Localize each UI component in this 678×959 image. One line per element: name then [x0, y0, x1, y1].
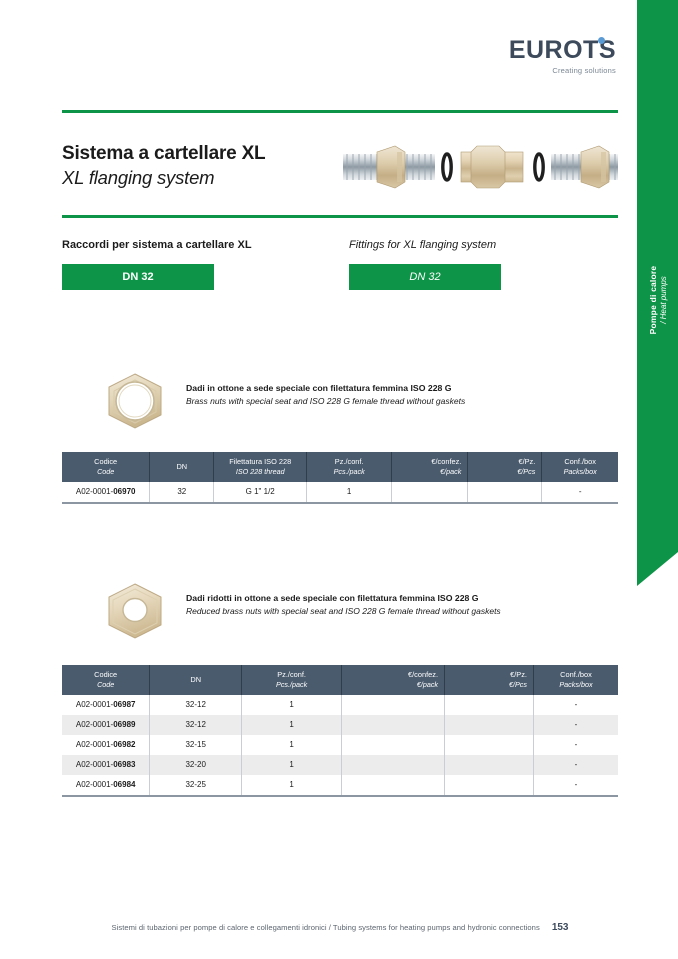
cell-price-pack: [342, 755, 445, 775]
badge-dn-en: DN 32: [349, 264, 501, 290]
cell-packs-box: -: [533, 775, 618, 796]
product-description-it: Dadi ridotti in ottone a sede speciale c…: [186, 592, 501, 605]
page-title-en: XL flanging system: [62, 166, 265, 189]
cell-price-pack: [342, 735, 445, 755]
page-title: Sistema a cartellare XL XL flanging syst…: [62, 142, 265, 189]
cell-pcs-pack: 1: [242, 775, 342, 796]
cell-dn: 32-12: [150, 715, 242, 735]
table-row: A02-0001-0698332-201-: [62, 755, 618, 775]
reduced-brass-hex-nut-photo: [84, 580, 186, 642]
cell-pcs-pack: 1: [307, 482, 392, 503]
page-title-it: Sistema a cartellare XL: [62, 142, 265, 166]
col-price-pack: €/confez. €/pack: [392, 452, 468, 482]
col-packs-box: Conf./box Packs/box: [542, 452, 618, 482]
col-filettatura: Filettatura ISO 228 ISO 228 thread: [214, 452, 307, 482]
col-packs-box: Conf./box Packs/box: [533, 665, 618, 695]
cell-price-pcs: [468, 482, 542, 503]
logo-tagline: Creating solutions: [509, 66, 616, 75]
col-price-pcs: €/Pz. €/Pcs: [468, 452, 542, 482]
brass-hex-nut-photo: [84, 370, 186, 432]
product-description-2: Dadi ridotti in ottone a sede speciale c…: [186, 592, 501, 618]
cell-price-pcs: [445, 775, 534, 796]
section-tab-label-it: Pompe di calore: [648, 266, 658, 335]
cell-price-pack: [392, 482, 468, 503]
divider-top: [62, 110, 618, 113]
cell-thread: G 1" 1/2: [214, 482, 307, 503]
table-row: A02-0001-0698232-151-: [62, 735, 618, 755]
cell-dn: 32-15: [150, 735, 242, 755]
col-pcs-pack: Pz./conf. Pcs./pack: [307, 452, 392, 482]
col-codice: Codice Code: [62, 452, 150, 482]
cell-pcs-pack: 1: [242, 695, 342, 715]
divider-middle: [62, 215, 618, 218]
logo-wordmark-main: EUROT: [509, 36, 599, 64]
cell-dn: 32-25: [150, 775, 242, 796]
col-codice: Codice Code: [62, 665, 150, 695]
cell-code: A02-0001-06970: [62, 482, 150, 503]
product-description-en: Brass nuts with special seat and ISO 228…: [186, 395, 465, 408]
footer-page-number: 153: [552, 922, 569, 933]
cell-price-pcs: [445, 755, 534, 775]
cell-price-pcs: [445, 735, 534, 755]
logo-dot-icon: [598, 37, 605, 44]
section-tab-notch: [637, 552, 678, 586]
cell-price-pack: [342, 775, 445, 796]
hero-product-image: [343, 128, 618, 204]
cell-pcs-pack: 1: [242, 755, 342, 775]
table-header-row: Codice Code DN Filettatura ISO 228 ISO 2…: [62, 452, 618, 482]
product-description-it: Dadi in ottone a sede speciale con filet…: [186, 382, 465, 395]
cell-price-pack: [342, 715, 445, 735]
product-description-1: Dadi in ottone a sede speciale con filet…: [186, 382, 465, 408]
col-pcs-pack: Pz./conf. Pcs./pack: [242, 665, 342, 695]
badge-dn-it: DN 32: [62, 264, 214, 290]
col-price-pack: €/confez. €/pack: [342, 665, 445, 695]
cell-packs-box: -: [533, 755, 618, 775]
cell-dn: 32: [150, 482, 214, 503]
section-tab-label-en: / Heat pumps: [659, 266, 668, 335]
section-tab-label: Pompe di calore / Heat pumps: [648, 266, 668, 335]
product-description-en: Reduced brass nuts with special seat and…: [186, 605, 501, 618]
cell-pcs-pack: 1: [242, 715, 342, 735]
cell-code: A02-0001-06984: [62, 775, 150, 796]
table-row: A02-0001-06970 32 G 1" 1/2 1 -: [62, 482, 618, 503]
table-row: A02-0001-0698932-121-: [62, 715, 618, 735]
cell-dn: 32-20: [150, 755, 242, 775]
col-dn: DN: [150, 452, 214, 482]
cell-packs-box: -: [542, 482, 618, 503]
cell-pcs-pack: 1: [242, 735, 342, 755]
table-header-row: Codice Code DN Pz./conf. Pcs./pack €/con…: [62, 665, 618, 695]
section-tab-heat-pumps: Pompe di calore / Heat pumps: [637, 0, 678, 552]
product-table-2: Codice Code DN Pz./conf. Pcs./pack €/con…: [62, 665, 618, 797]
cell-dn: 32-12: [150, 695, 242, 715]
cell-packs-box: -: [533, 735, 618, 755]
cell-price-pcs: [445, 695, 534, 715]
cell-packs-box: -: [533, 695, 618, 715]
logo-wordmark: EUROTS: [509, 38, 616, 63]
product-table-1: Codice Code DN Filettatura ISO 228 ISO 2…: [62, 452, 618, 504]
cell-price-pack: [342, 695, 445, 715]
brand-logo: EUROTS Creating solutions: [509, 38, 616, 75]
cell-code: A02-0001-06983: [62, 755, 150, 775]
cell-code: A02-0001-06982: [62, 735, 150, 755]
footer-text: Sistemi di tubazioni per pompe di calore…: [112, 923, 540, 932]
section-subtitle-en: Fittings for XL flanging system: [349, 239, 496, 251]
section-subtitle-it: Raccordi per sistema a cartellare XL: [62, 239, 252, 251]
page-footer: Sistemi di tubazioni per pompe di calore…: [62, 922, 618, 933]
col-price-pcs: €/Pz. €/Pcs: [445, 665, 534, 695]
col-dn: DN: [150, 665, 242, 695]
table-row: A02-0001-0698432-251-: [62, 775, 618, 796]
cell-code: A02-0001-06987: [62, 695, 150, 715]
cell-packs-box: -: [533, 715, 618, 735]
cell-code: A02-0001-06989: [62, 715, 150, 735]
cell-price-pcs: [445, 715, 534, 735]
table-row: A02-0001-0698732-121-: [62, 695, 618, 715]
